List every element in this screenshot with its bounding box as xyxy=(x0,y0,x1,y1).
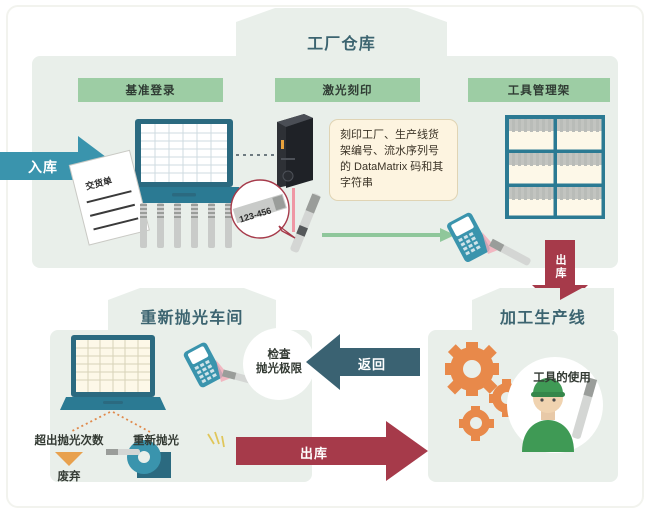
check-polish-limit-line2: 抛光极限 xyxy=(256,363,302,375)
section-chip-laser-marking: 激光刻印 xyxy=(275,78,420,102)
outbound-vertical-arrow-label: 出库 xyxy=(552,247,568,287)
diagram-canvas: 工厂仓库 基准登录 激光刻印 工具管理架 xyxy=(0,0,650,513)
check-polish-limit-line1: 检查 xyxy=(268,349,291,361)
laser-marking-callout: 刻印工厂、生产线货架编号、流水序列号的 DataMatrix 码和其字符串 xyxy=(329,119,458,201)
repolish-label: 重新抛光 xyxy=(120,432,192,448)
panel-title-factory-warehouse: 工厂仓库 xyxy=(236,30,447,54)
discard-label: 废弃 xyxy=(48,468,90,484)
panel-title-processing-line: 加工生产线 xyxy=(472,304,614,328)
outbound-horizontal-arrow-label: 出库 xyxy=(290,443,338,462)
over-polish-count-label: 超出抛光次数 xyxy=(20,432,118,448)
inbound-arrow-label: 入库 xyxy=(14,157,72,177)
section-chip-tool-rack: 工具管理架 xyxy=(468,78,610,102)
check-polish-limit-label: 检查 抛光极限 xyxy=(239,348,319,377)
return-arrow-label: 返回 xyxy=(343,354,401,373)
panel-processing-line xyxy=(428,330,618,482)
panel-title-repolish-workshop: 重新抛光车间 xyxy=(108,304,276,328)
tool-usage-label: 工具的使用 xyxy=(524,369,600,385)
section-chip-baseline-registration: 基准登录 xyxy=(78,78,223,102)
